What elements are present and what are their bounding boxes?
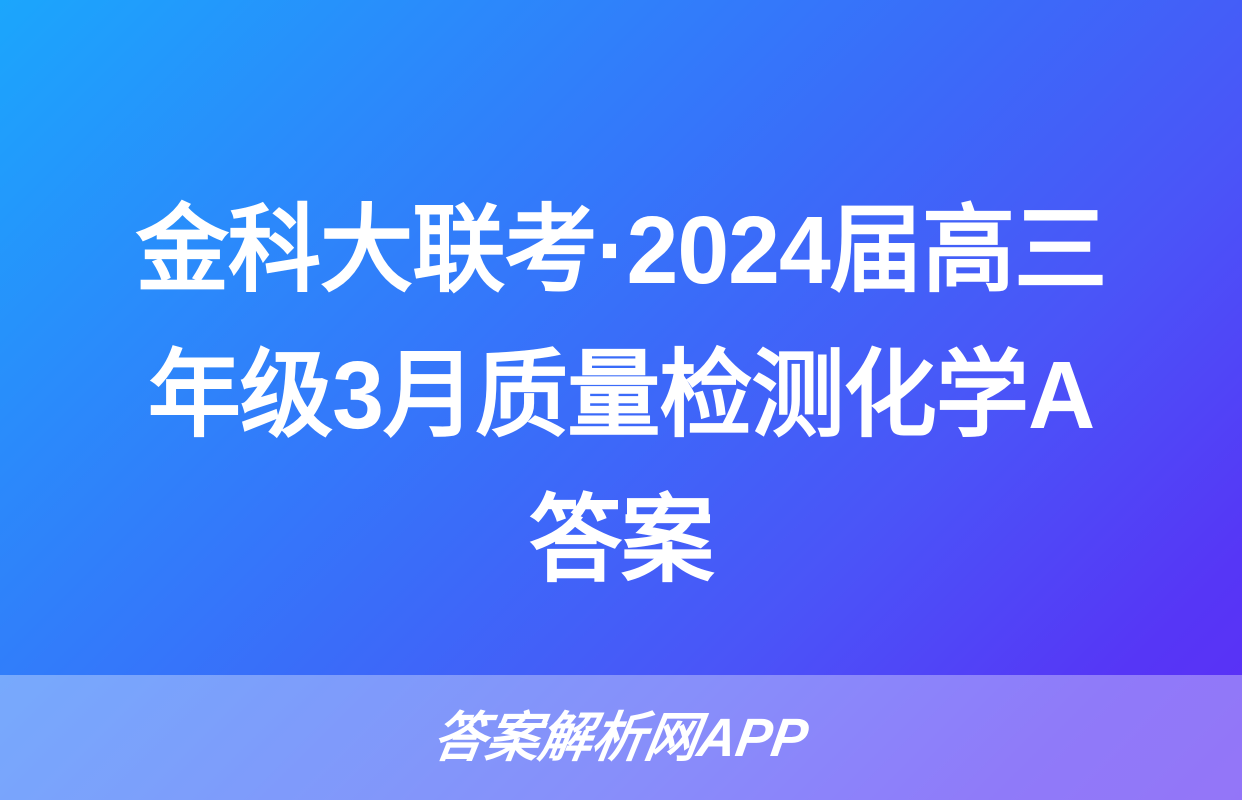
title-line-3: 答案 bbox=[57, 468, 1184, 613]
title-line-2: 年级3月质量检测化学A bbox=[57, 323, 1184, 468]
footer-watermark-band: 答案解析网APP bbox=[0, 675, 1242, 800]
page-title: 金科大联考·2024届高三 年级3月质量检测化学A 答案 bbox=[0, 178, 1242, 613]
title-line-1: 金科大联考·2024届高三 bbox=[57, 178, 1184, 323]
watermark-label: 答案解析网APP bbox=[430, 711, 812, 765]
poster-canvas: 金科大联考·2024届高三 年级3月质量检测化学A 答案 答案解析网APP bbox=[0, 0, 1242, 800]
